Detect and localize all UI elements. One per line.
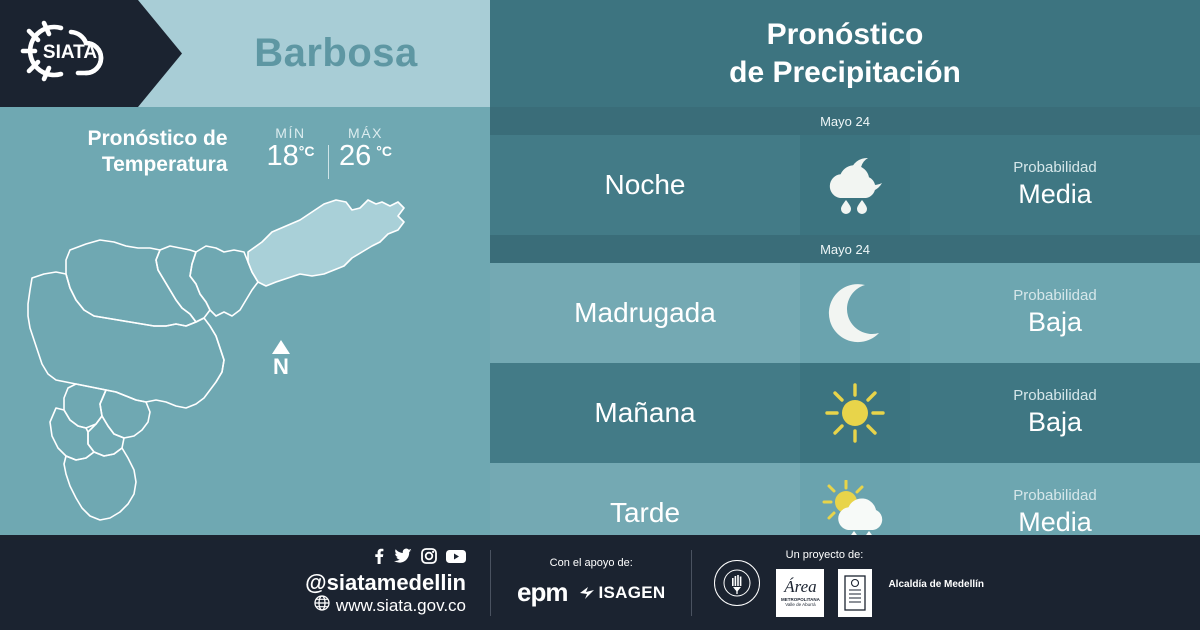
unal-seal-icon	[714, 560, 760, 606]
footer: @siatamedellin www.siata.gov.co Con el a…	[0, 535, 1200, 630]
project-logos-column: Un proyecto de: Área METROPOLITANA Valle…	[776, 549, 872, 617]
period-label-madrugada: Madrugada	[490, 263, 800, 363]
alcaldia-logo-mark	[838, 569, 872, 617]
valle-de-aburra-map: N	[0, 190, 490, 535]
footer-project-block: Un proyecto de: Área METROPOLITANA Valle…	[692, 549, 984, 617]
social-handle[interactable]: @siatamedellin	[305, 571, 466, 595]
temperature-min-label: MÍN	[275, 125, 305, 141]
area-metropolitana-logo: Área METROPOLITANA Valle de Aburrá	[776, 569, 824, 617]
compass-rose: N	[272, 340, 290, 378]
alcaldia-label: Alcaldía de Medellín	[888, 579, 984, 590]
forecast-row-noche: Noche Probabilidad Media	[490, 135, 1200, 235]
temperature-block: Pronóstico de Temperatura MÍN 18 °C MÁX …	[0, 107, 490, 197]
footer-support-block: Con el apoyo de: epm ISAGEN	[491, 557, 691, 608]
date-band-1: Mayo 24	[490, 107, 1200, 135]
probability-value-noche: Media	[1018, 178, 1092, 212]
temperature-max-unit: °C	[376, 144, 392, 159]
temperature-min-unit: °C	[299, 144, 315, 159]
map-municipality-itagui	[64, 384, 106, 428]
temperature-title: Pronóstico de Temperatura	[87, 126, 227, 177]
crescent-moon-icon	[800, 263, 910, 363]
probability-value-madrugada: Baja	[1028, 306, 1082, 340]
city-name: Barbosa	[182, 0, 490, 107]
website-row[interactable]: www.siata.gov.co	[314, 595, 466, 616]
compass-arrow-icon	[272, 340, 290, 354]
globe-icon	[314, 595, 330, 616]
temperature-min-value-wrap: 18 °C	[267, 141, 315, 173]
precipitation-title: Pronóstico de Precipitación	[490, 0, 1200, 107]
map-municipality-edge-east	[210, 326, 224, 382]
temperature-max-value-wrap: 26 °C	[339, 141, 392, 173]
map-municipality-envigado	[100, 390, 150, 438]
precipitation-title-line1: Pronóstico	[767, 16, 924, 54]
infographic-canvas: SIATA Barbosa Pronóstico de Temperatura …	[0, 0, 1200, 630]
probability-madrugada: Probabilidad Baja	[910, 263, 1200, 363]
siata-logo-chevron: SIATA	[0, 0, 182, 107]
temperature-max: MÁX 26 °C	[329, 125, 403, 173]
forecast-row-manana: Mañana Probabili	[490, 363, 1200, 463]
map-municipality-caldas	[64, 448, 136, 520]
sun-icon	[800, 363, 910, 463]
project-logos: Área METROPOLITANA Valle de Aburrá	[776, 569, 872, 617]
isagen-text: ISAGEN	[598, 583, 665, 603]
facebook-icon[interactable]	[372, 548, 385, 569]
probability-noche: Probabilidad Media	[910, 135, 1200, 235]
sun-cloud-icon: SIATA	[14, 15, 122, 92]
probability-manana: Probabilidad Baja	[910, 363, 1200, 463]
website-url[interactable]: www.siata.gov.co	[336, 596, 466, 616]
probability-label-manana: Probabilidad	[1013, 387, 1096, 406]
youtube-icon[interactable]	[446, 549, 466, 569]
temperature-title-line2: Temperatura	[87, 152, 227, 178]
isagen-logo: ISAGEN	[579, 583, 665, 603]
social-icons	[372, 548, 466, 569]
support-logos: epm ISAGEN	[517, 577, 665, 608]
epm-logo: epm	[517, 577, 567, 608]
probability-label-noche: Probabilidad	[1013, 159, 1096, 178]
date-band-2: Mayo 24	[490, 235, 1200, 263]
probability-value-manana: Baja	[1028, 406, 1082, 440]
map-municipality-barbosa	[248, 200, 404, 286]
map-municipality-bello	[66, 240, 196, 326]
probability-label-tarde: Probabilidad	[1013, 487, 1096, 506]
temperature-readings: MÍN 18 °C MÁX 26 °C	[254, 125, 403, 179]
temperature-title-line1: Pronóstico de	[87, 126, 227, 152]
map-municipality-medellin	[28, 272, 224, 408]
twitter-icon[interactable]	[394, 548, 412, 569]
support-caption: Con el apoyo de:	[550, 557, 633, 569]
probability-label-madrugada: Probabilidad	[1013, 287, 1096, 306]
area-logo-line3: Valle de Aburrá	[785, 602, 815, 607]
compass-label: N	[273, 356, 289, 378]
period-label-noche: Noche	[490, 135, 800, 235]
map-municipality-copacabana	[156, 246, 210, 322]
area-logo-script: Área	[784, 578, 816, 595]
temperature-min: MÍN 18 °C	[254, 125, 328, 173]
project-caption: Un proyecto de:	[786, 549, 864, 561]
instagram-icon[interactable]	[421, 548, 437, 569]
precipitation-title-line2: de Precipitación	[729, 54, 961, 92]
temperature-max-label: MÁX	[348, 125, 383, 141]
footer-social-block: @siatamedellin www.siata.gov.co	[0, 548, 490, 617]
temperature-min-value: 18	[267, 141, 299, 173]
period-label-manana: Mañana	[490, 363, 800, 463]
map-municipality-la-estrella	[50, 408, 94, 460]
right-panel: Pronóstico de Precipitación Mayo 24 Noch…	[490, 0, 1200, 535]
forecast-row-madrugada: Madrugada Probabilidad Baja	[490, 263, 1200, 363]
left-panel: SIATA Barbosa Pronóstico de Temperatura …	[0, 0, 490, 535]
moon-rain-cloud-icon	[800, 135, 910, 235]
city-banner: SIATA Barbosa	[0, 0, 490, 107]
temperature-max-value: 26	[339, 141, 371, 173]
siata-logo-text: SIATA	[43, 42, 97, 63]
